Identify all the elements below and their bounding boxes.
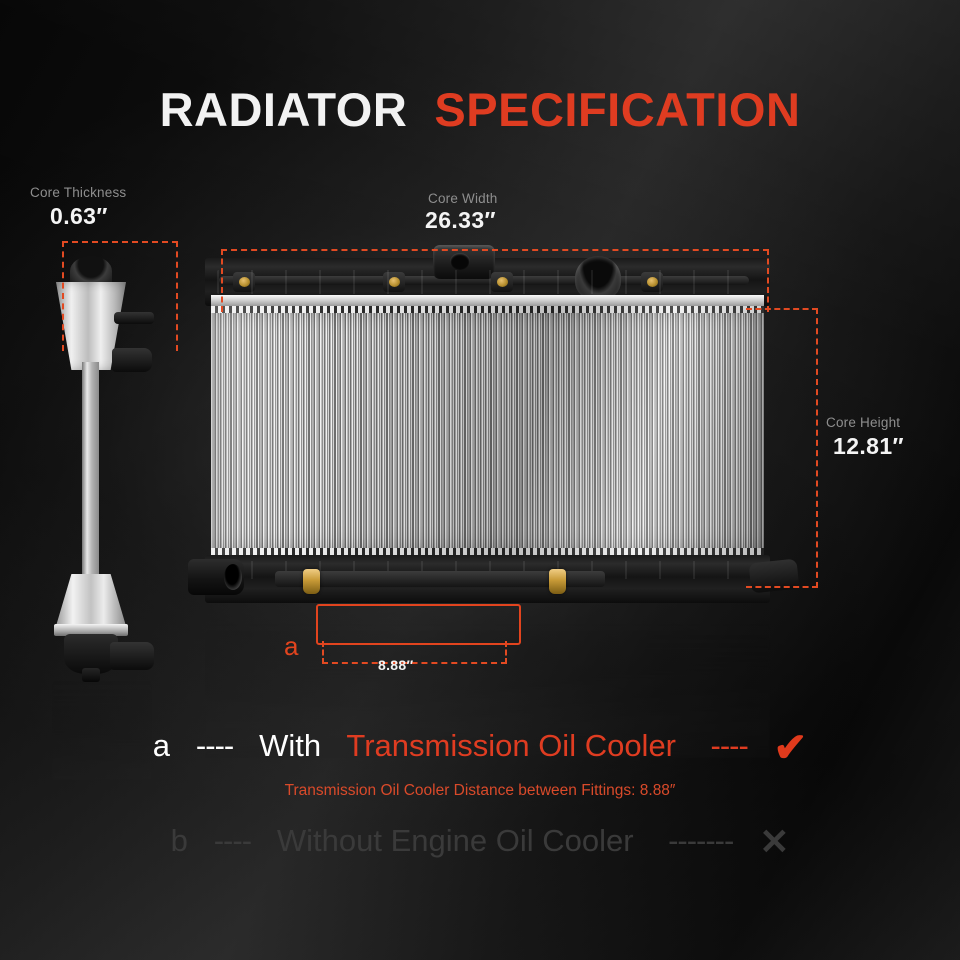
legend-a-highlight: Transmission Oil Cooler <box>346 728 676 763</box>
core-teeth-bottom <box>211 548 764 555</box>
side-port-upper <box>114 312 154 324</box>
height-bracket-top <box>746 308 818 310</box>
radiator-front-view <box>205 258 770 603</box>
core-width-label: Core Width <box>428 191 498 206</box>
side-port-lower <box>110 642 154 670</box>
core-cap-top <box>211 295 764 306</box>
cross-icon: ✕ <box>759 821 789 862</box>
fitting-measure-bottom <box>322 662 507 664</box>
legend-row-a: a ---- With Transmission Oil Cooler ----… <box>0 728 960 768</box>
width-bracket-right <box>767 249 769 312</box>
radiator-core <box>211 306 764 555</box>
thickness-bracket-top <box>62 241 178 243</box>
marker-a: a <box>284 631 298 662</box>
spec-sheet-canvas: RADIATOR SPECIFICATION <box>0 0 960 960</box>
legend-b-text: Without Engine Oil Cooler <box>277 823 634 858</box>
height-bracket-right <box>816 308 818 588</box>
trans-cooler-highlight-box <box>316 604 521 645</box>
core-thickness-value: 0.63″ <box>50 203 108 230</box>
legend-a-prefix: With <box>259 728 321 763</box>
legend-a-tag: a <box>153 728 170 763</box>
side-cap <box>70 256 112 286</box>
core-teeth-top <box>211 306 764 313</box>
fitting-distance-value: 8.88″ <box>378 657 413 673</box>
legend-b-dashes-left: ---- <box>214 823 251 858</box>
title-part-radiator: RADIATOR <box>160 83 408 136</box>
core-height-label: Core Height <box>826 415 900 430</box>
lower-hose-outlet <box>188 559 244 595</box>
side-core-bottom <box>56 574 126 626</box>
radiator-side-view <box>52 256 152 656</box>
width-bracket-left <box>221 249 223 312</box>
side-core-body <box>82 362 99 584</box>
core-width-value: 26.33″ <box>425 207 496 234</box>
check-icon: ✔ <box>774 726 808 770</box>
page-title: RADIATOR SPECIFICATION <box>0 86 960 133</box>
top-tank-ribs <box>217 270 758 294</box>
legend-b-tag: b <box>171 823 188 858</box>
title-part-specification: SPECIFICATION <box>434 83 800 136</box>
trans-cooler-fitting-right <box>549 569 566 594</box>
side-port-middle <box>112 348 152 372</box>
width-bracket-top <box>221 249 769 251</box>
legend-a-dashes-right: ---- <box>711 728 748 763</box>
thickness-bracket-right <box>176 241 178 351</box>
legend-row-b: b ---- Without Engine Oil Cooler -------… <box>0 824 960 860</box>
trans-cooler-fitting-left <box>303 569 320 594</box>
thickness-bracket-left <box>62 241 64 351</box>
legend-a-note: Transmission Oil Cooler Distance between… <box>0 782 960 800</box>
bottom-tank <box>205 555 770 603</box>
height-bracket-bottom <box>746 586 818 588</box>
legend-a-dashes-left: ---- <box>196 728 233 763</box>
lower-right-bracket <box>749 559 800 594</box>
legend-b-dashes-right: ------- <box>668 823 733 858</box>
core-height-value: 12.81″ <box>833 433 904 460</box>
core-thickness-label: Core Thickness <box>30 185 126 200</box>
